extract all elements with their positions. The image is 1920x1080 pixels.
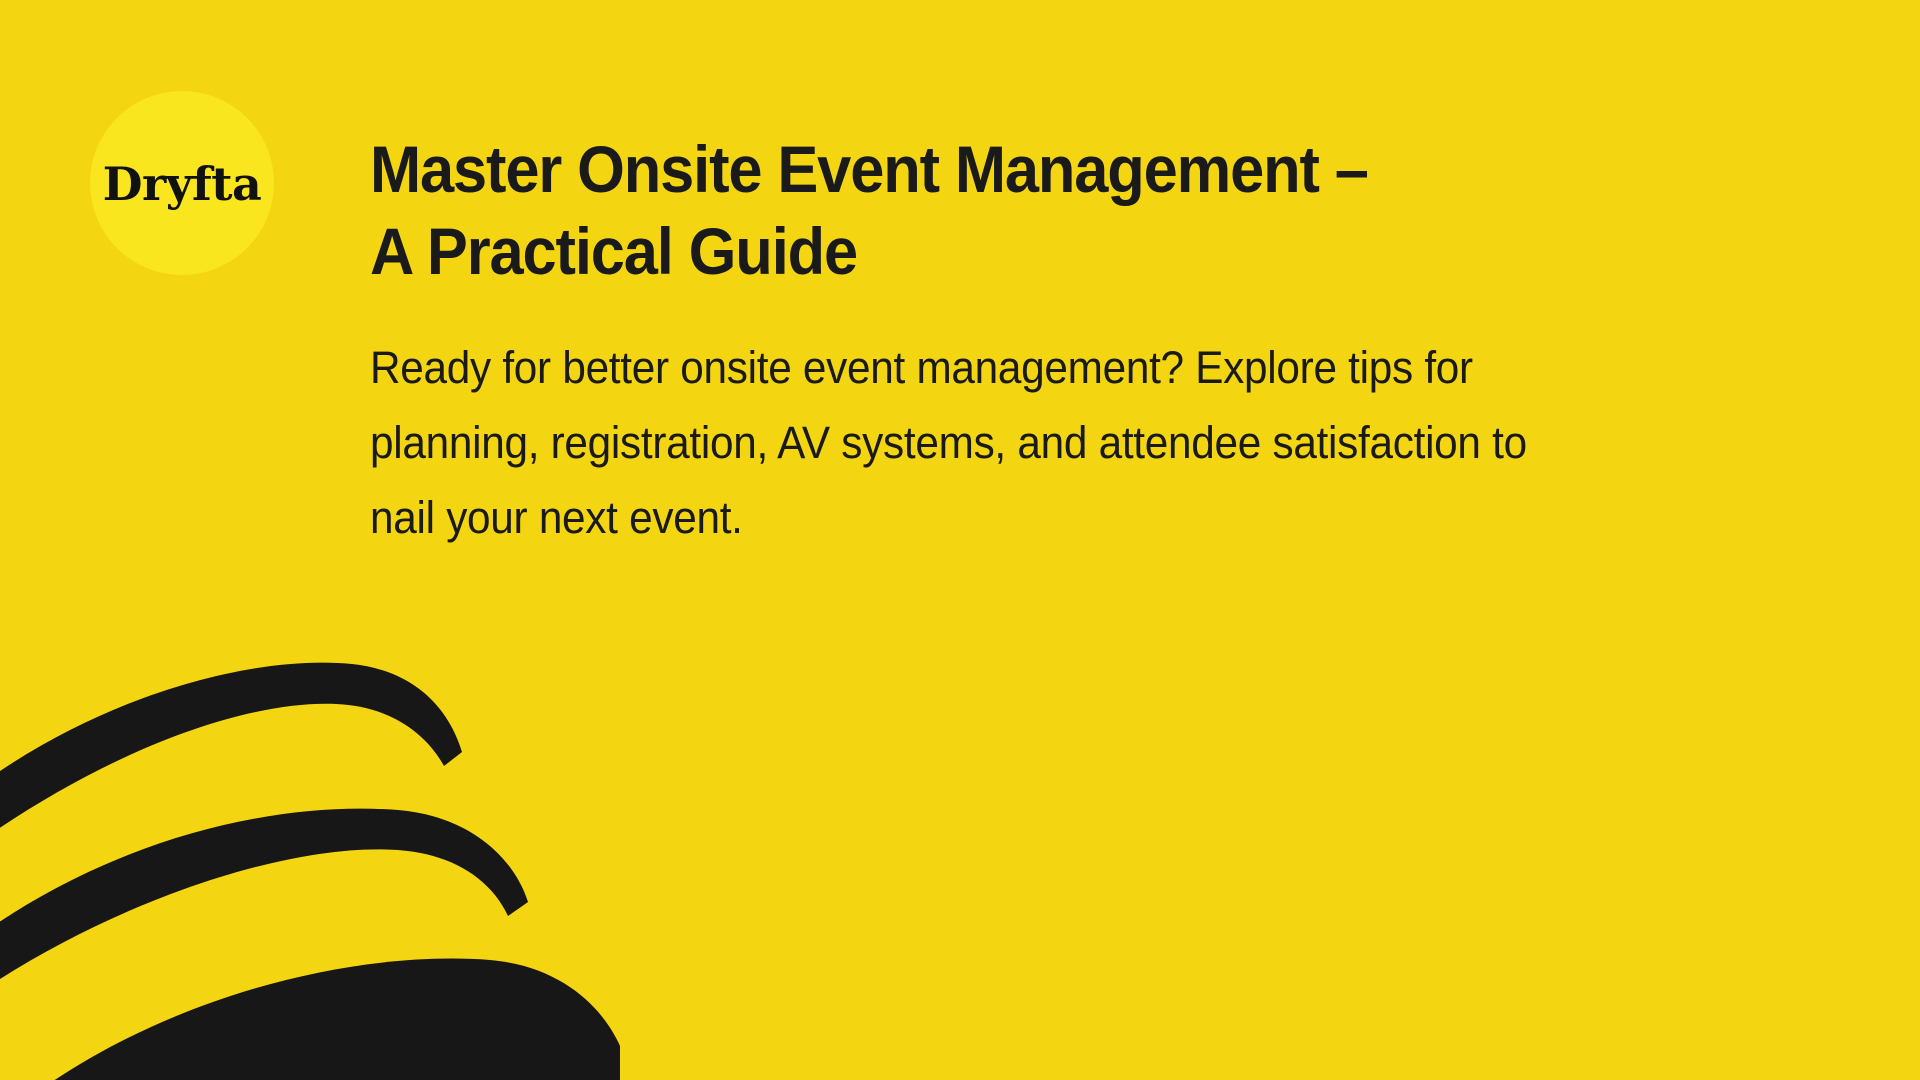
brand-wordmark: Dryfta (103, 161, 262, 207)
brand-logo-badge[interactable]: Dryfta (90, 91, 274, 275)
page-subtitle: Ready for better onsite event management… (370, 330, 1536, 555)
hero-content: Master Onsite Event Management – A Pract… (370, 128, 1830, 555)
swoosh-stripe-2 (0, 809, 528, 1006)
decorative-swoosh-stripes (0, 620, 620, 1080)
swoosh-stripe-1 (0, 663, 462, 856)
page-title: Master Onsite Event Management – A Pract… (370, 128, 1728, 292)
swoosh-stripe-3 (40, 959, 620, 1080)
promo-card: Dryfta Master Onsite Event Management – … (0, 0, 1920, 1080)
